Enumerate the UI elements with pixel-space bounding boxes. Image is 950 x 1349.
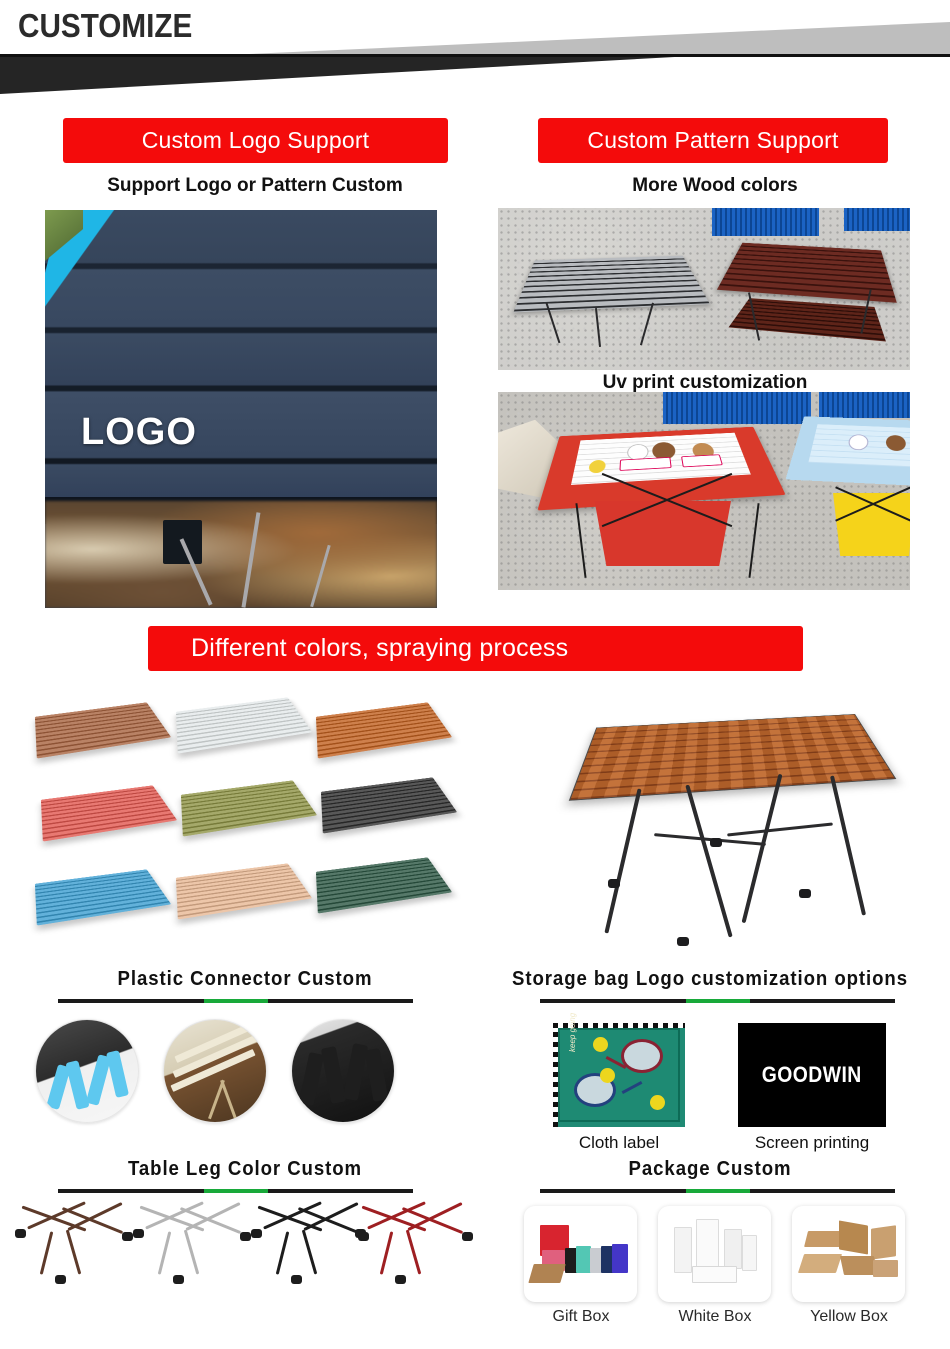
white-box-5 <box>692 1266 737 1283</box>
divider-package <box>540 1189 895 1193</box>
leg-foot-1 <box>15 1229 26 1238</box>
uv-blue-crate-1 <box>663 392 811 424</box>
caption-more-wood: More Wood colors <box>520 175 910 197</box>
swatch-olive-green <box>181 780 317 836</box>
swatch-copper-rosewood <box>35 702 171 758</box>
white-box-2 <box>696 1219 719 1271</box>
leg-foot-3 <box>55 1275 66 1284</box>
racket-head-red <box>621 1039 663 1073</box>
uv-chick-figure <box>587 459 605 473</box>
photo-yellow-box <box>792 1206 905 1302</box>
swatch-blue <box>35 869 171 925</box>
tennis-ball-2 <box>600 1068 615 1083</box>
uv-blue-table <box>785 416 910 487</box>
gift-box-kraft <box>528 1264 565 1283</box>
white-box-3 <box>724 1229 742 1269</box>
big-table-foot-3 <box>710 838 722 847</box>
uv-cake-2 <box>680 454 723 468</box>
kraft-box-4 <box>798 1254 843 1273</box>
illustration-wood-folding-table <box>575 695 905 950</box>
connector-blue-part-2 <box>65 1060 89 1110</box>
leg-foot-3 <box>395 1275 406 1284</box>
photo-cloth-label: keep going <box>553 1023 685 1127</box>
big-table-leg-2 <box>685 784 732 937</box>
leg-bar-5 <box>39 1231 53 1275</box>
caption-cloth-label: Cloth label <box>553 1133 685 1153</box>
section-title-package: Package Custom <box>515 1158 906 1181</box>
caption-yellow-box: Yellow Box <box>784 1308 914 1326</box>
kraft-box-1 <box>804 1231 844 1247</box>
page-title: CUSTOMIZE <box>18 7 192 45</box>
white-box-4 <box>742 1235 758 1271</box>
photo-white-box <box>658 1206 771 1302</box>
leg-bar-6 <box>302 1229 318 1274</box>
leg-foot-1 <box>355 1229 366 1238</box>
big-table-leg-1 <box>605 788 642 933</box>
blue-crate-2 <box>844 208 910 231</box>
photo-connector-black <box>291 1019 395 1123</box>
photo-wood-colors <box>498 208 910 370</box>
uv-cake-1 <box>619 456 671 471</box>
uv-red-storage-bag <box>589 501 737 566</box>
swatch-peach-tan <box>176 863 312 919</box>
uv-blue-bear <box>886 435 906 451</box>
photo-logo-table: LOGO <box>45 210 437 608</box>
section-title-storage-bag: Storage bag Logo customization options <box>496 968 924 991</box>
uv-blue-artwork <box>808 424 910 467</box>
leg-bar-6 <box>406 1229 422 1274</box>
leg-bar-5 <box>275 1231 289 1275</box>
caption-uv-print: Uv print customization <box>500 372 910 394</box>
big-table-crossbar-2 <box>727 822 832 836</box>
caption-support-logo: Support Logo or Pattern Custom <box>40 175 470 197</box>
tennis-ball-3 <box>650 1095 665 1110</box>
big-table-top <box>569 714 897 801</box>
divider-storage-bag <box>540 999 895 1003</box>
big-table-leg-4 <box>830 775 866 915</box>
swatch-orange-wood <box>316 702 452 758</box>
big-table-foot-4 <box>799 889 811 898</box>
connector-black-part-1 <box>299 1052 324 1106</box>
kraft-box-5 <box>840 1256 878 1275</box>
connector-black-part-4 <box>364 1048 388 1102</box>
divider-green-dash <box>204 999 268 1003</box>
leg-foot-3 <box>173 1275 184 1284</box>
swatch-black <box>321 777 457 833</box>
leg-bar-6 <box>66 1229 82 1274</box>
gift-box-teal <box>576 1246 591 1273</box>
racket-handle-blue <box>622 1081 643 1094</box>
connector-blue-part-4 <box>106 1050 129 1098</box>
swatch-dark-green <box>316 857 452 913</box>
big-table-leg-3 <box>741 773 782 922</box>
photo-uv-print <box>498 392 910 590</box>
swatch-red <box>41 785 177 841</box>
divider-green-dash <box>686 1189 750 1193</box>
photo-gift-box <box>524 1206 637 1302</box>
leg-foot-1 <box>133 1229 144 1238</box>
kraft-box-3 <box>871 1225 896 1259</box>
big-table-foot-2 <box>677 937 689 946</box>
label-script-text: keep going <box>568 1013 577 1052</box>
photo-screen-printing: GOODWIN <box>738 1023 886 1127</box>
leg-bar-6 <box>184 1229 200 1274</box>
leg-frame-silver <box>130 1205 255 1290</box>
silver-table-top <box>513 255 710 312</box>
header-rule <box>0 54 950 57</box>
swatch-white-silver <box>176 697 312 753</box>
page-header: CUSTOMIZE <box>0 0 950 95</box>
connector-black-part-2 <box>320 1046 345 1104</box>
logo-green-accent <box>45 210 83 270</box>
gift-box-purple <box>612 1244 628 1273</box>
kraft-box-6 <box>873 1260 898 1277</box>
divider-table-leg <box>58 1189 413 1193</box>
divider-green-dash <box>204 1189 268 1193</box>
photo-connector-blue <box>35 1019 139 1123</box>
cloth-label-field: keep going <box>558 1028 680 1122</box>
leg-frame-brown <box>12 1205 137 1290</box>
big-table-foot-1 <box>608 879 620 888</box>
brand-wordmark: GOODWIN <box>762 1062 862 1088</box>
section-title-plastic-connector: Plastic Connector Custom <box>54 968 435 991</box>
divider-green-dash <box>686 999 750 1003</box>
wood-leg-2 <box>220 1080 237 1119</box>
header-black-wedge <box>0 57 950 94</box>
divider-plastic-connector <box>58 999 413 1003</box>
leg-bar-5 <box>379 1231 393 1275</box>
logo-watermark-text: LOGO <box>81 411 197 454</box>
white-box-1 <box>674 1227 692 1273</box>
banner-spraying-process: Different colors, spraying process <box>148 626 803 671</box>
caption-gift-box: Gift Box <box>516 1308 646 1326</box>
photo-connector-wood <box>163 1019 267 1123</box>
tennis-ball-1 <box>593 1037 608 1052</box>
section-title-table-leg: Table Leg Color Custom <box>54 1158 435 1181</box>
uv-blue-crate-2 <box>819 392 910 418</box>
blue-crate-1 <box>712 208 819 236</box>
leg-foot-1 <box>251 1229 262 1238</box>
leg-bar-5 <box>157 1231 171 1275</box>
caption-screen-printing: Screen printing <box>738 1133 886 1153</box>
banner-custom-pattern: Custom Pattern Support <box>538 118 888 163</box>
leg-foot-3 <box>291 1275 302 1284</box>
color-swatch-grid <box>35 690 455 935</box>
uv-blue-rabbit <box>847 434 868 450</box>
leg-foot-2 <box>462 1232 473 1241</box>
kraft-box-2 <box>839 1221 868 1255</box>
logo-ground-blur <box>45 501 437 608</box>
caption-white-box: White Box <box>650 1308 780 1326</box>
banner-custom-logo: Custom Logo Support <box>63 118 448 163</box>
leg-frame-red <box>352 1205 477 1290</box>
